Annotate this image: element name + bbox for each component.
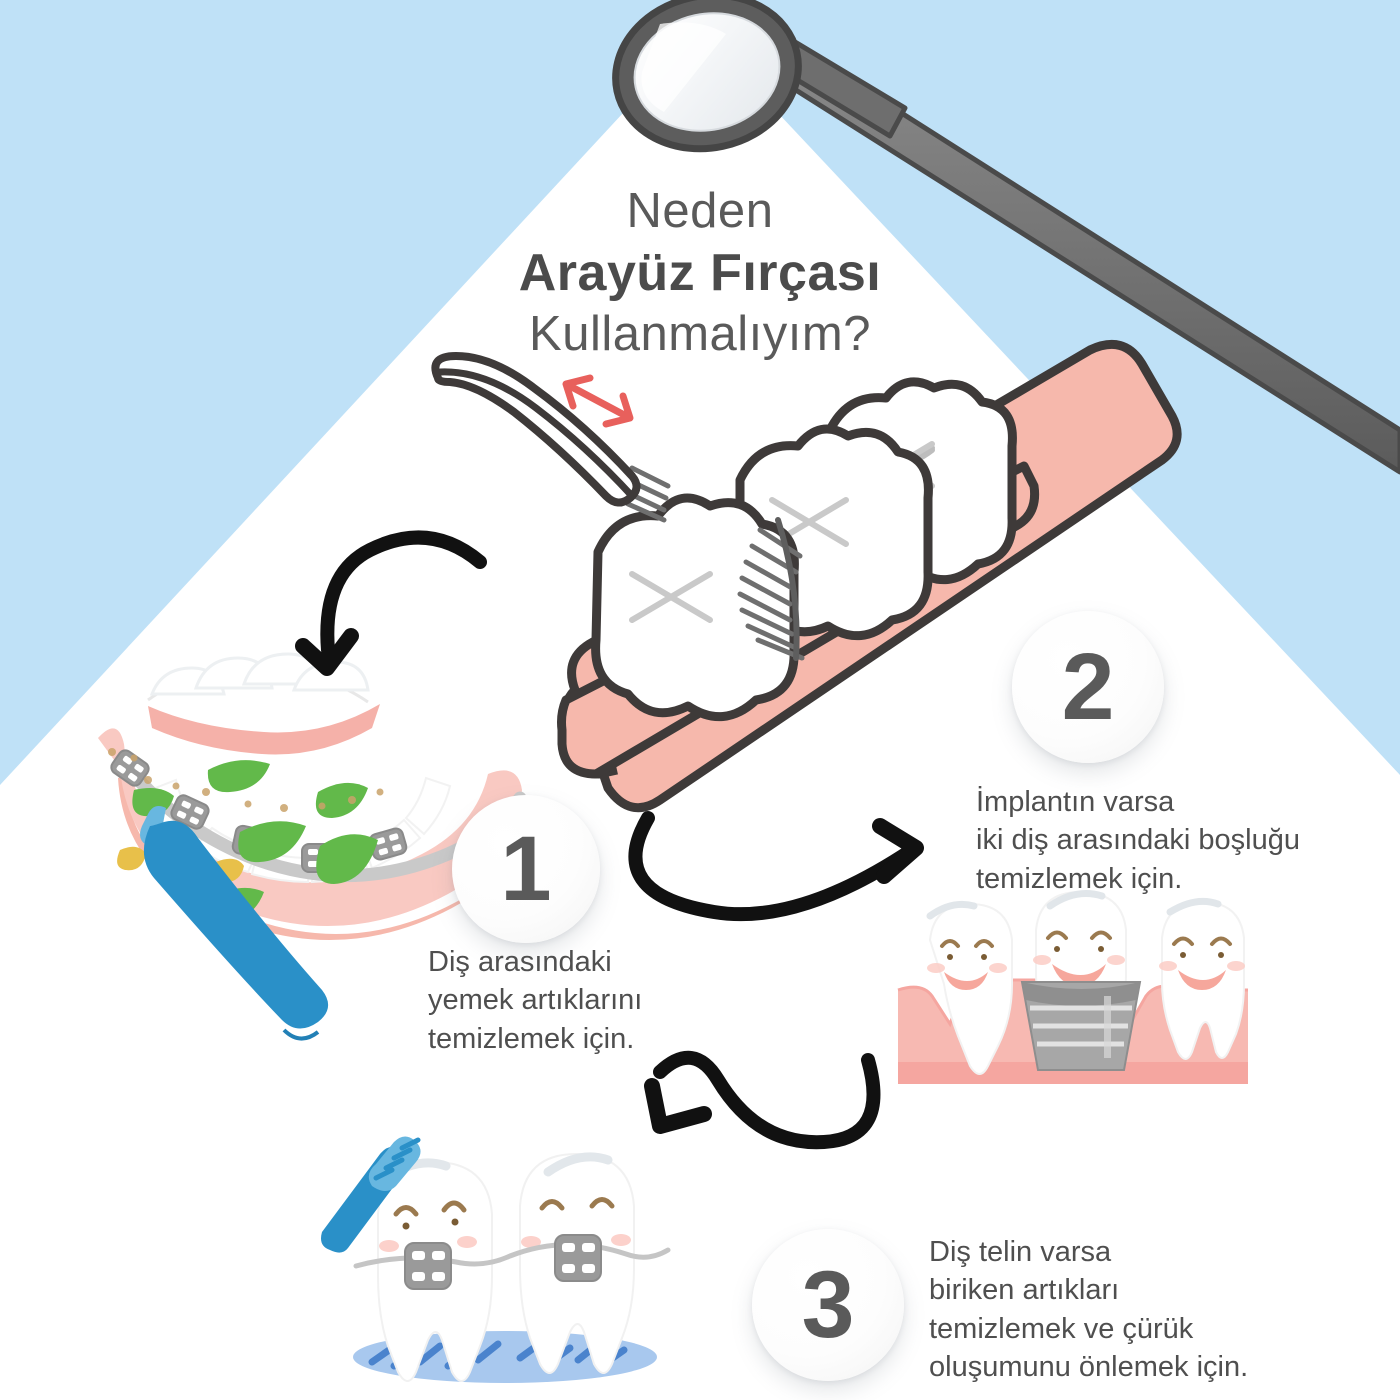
step-badge-2[interactable]: 2	[1012, 611, 1164, 763]
arrow-step2-to-step3	[660, 1058, 874, 1142]
arrow-step1-to-step2	[635, 818, 912, 914]
step-badge-1[interactable]: 1	[452, 795, 600, 943]
step-badge-3[interactable]: 3	[752, 1229, 904, 1381]
infographic-canvas: Neden Arayüz Fırçası Kullanmalıyım?	[0, 0, 1400, 1400]
step-caption-3: Diş telin varsa biriken artıkları temizl…	[929, 1233, 1248, 1386]
step-caption-2: İmplantın varsa iki diş arasındaki boşlu…	[976, 783, 1300, 898]
step-caption-1: Diş arasındaki yemek artıklarını temizle…	[428, 943, 642, 1058]
arrow-step2-to-step3-head	[652, 1086, 704, 1126]
arrows-layer	[0, 0, 1400, 1400]
